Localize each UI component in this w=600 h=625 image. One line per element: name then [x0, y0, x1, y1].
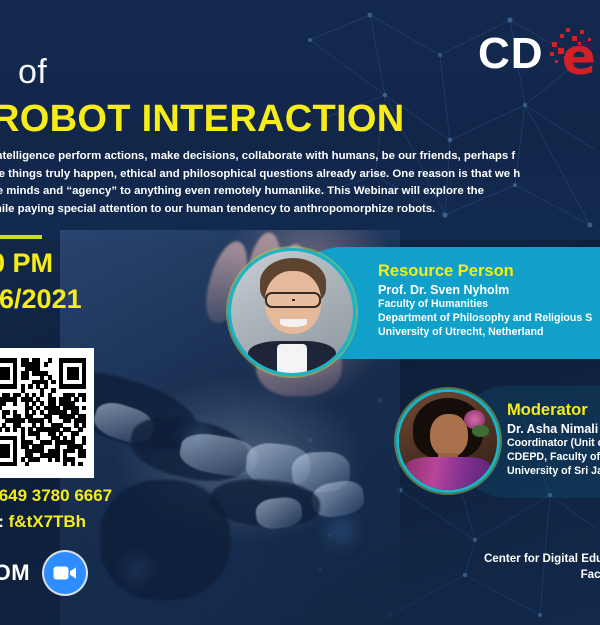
passcode-value: f&tX7TBh [9, 512, 86, 531]
resource-person-line3: University of Utrecht, Netherland [378, 326, 592, 340]
resource-person-photo [231, 251, 353, 373]
resource-person-line1: Faculty of Humanities [378, 298, 592, 312]
webinar-time: 0 PM [0, 250, 53, 277]
moderator-details: Moderator Dr. Asha Nimali Fer Coordinato… [507, 401, 600, 478]
resource-person-role: Resource Person [378, 262, 592, 280]
meeting-passcode: ode: f&tX7TBh [0, 513, 86, 530]
passcode-label: ode: [0, 512, 4, 531]
webinar-poster: CD e of ROBOT INTERACTION l intelligence… [0, 0, 600, 625]
meeting-id-value: 649 3780 6667 [0, 486, 112, 505]
footer-line3: Unive [484, 584, 600, 600]
bokeh-glow [188, 428, 204, 444]
video-camera-icon[interactable] [44, 552, 86, 594]
moderator-line2: CDEPD, Faculty of Hu [507, 451, 600, 465]
avatar [396, 389, 500, 493]
cde-logo: CD e [476, 26, 600, 88]
qr-code-pattern [0, 358, 86, 466]
moderator-photo [399, 392, 497, 490]
poster-title-line1: of [18, 55, 47, 89]
bokeh-glow [330, 520, 352, 542]
poster-footer: Center for Digital Education an Faculty … [484, 551, 600, 600]
poster-title-line2: ROBOT INTERACTION [0, 100, 405, 138]
cde-logo-text: CD [478, 32, 544, 76]
moderator-line3: University of Sri Jaye [507, 465, 600, 479]
qr-code[interactable] [0, 348, 94, 478]
avatar [228, 248, 356, 376]
zoom-platform-row[interactable]: OOM [0, 552, 86, 594]
meeting-id: D: 649 3780 6667 [0, 487, 112, 504]
footer-line2: Faculty of Hu [484, 567, 600, 583]
poster-description: l intelligence perform actions, make dec… [0, 148, 600, 218]
footer-line1: Center for Digital Education an [484, 551, 600, 567]
moderator-role: Moderator [507, 401, 600, 419]
accent-divider [0, 235, 42, 239]
resource-person-details: Resource Person Prof. Dr. Sven Nyholm Fa… [378, 262, 592, 339]
resource-person-name: Prof. Dr. Sven Nyholm [378, 283, 592, 298]
bokeh-glow [128, 560, 146, 578]
webinar-date: 06/2021 [0, 286, 82, 313]
moderator-name: Dr. Asha Nimali Fer [507, 422, 600, 437]
moderator-line1: Coordinator (Unit on [507, 437, 600, 451]
zoom-label: OOM [0, 562, 30, 584]
cde-logo-e-mark: e [550, 28, 600, 86]
resource-person-line2: Department of Philosophy and Religious S [378, 312, 592, 326]
